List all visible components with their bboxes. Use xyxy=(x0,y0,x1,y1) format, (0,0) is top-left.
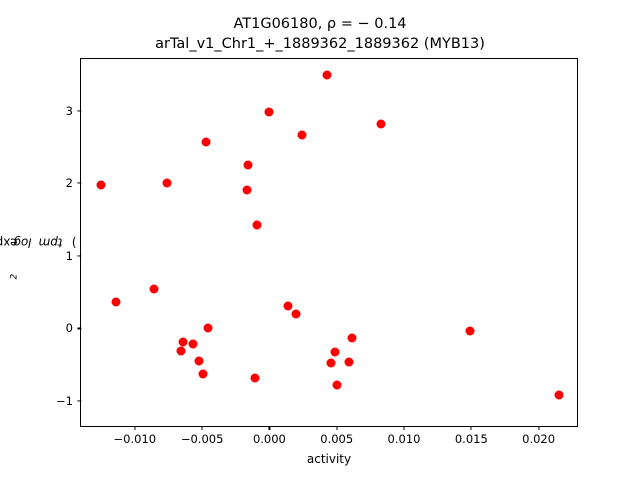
data-point xyxy=(265,108,274,117)
data-point xyxy=(111,297,120,306)
data-point xyxy=(327,358,336,367)
x-tick-mark xyxy=(471,426,472,430)
data-point xyxy=(292,309,301,318)
data-point xyxy=(163,179,172,188)
x-tick-mark xyxy=(202,426,203,430)
data-point xyxy=(202,137,211,146)
y-tick-mark xyxy=(77,255,81,256)
data-point xyxy=(347,333,356,342)
x-tick-mark xyxy=(269,426,270,430)
data-point xyxy=(323,70,332,79)
data-point xyxy=(188,339,197,348)
data-point xyxy=(284,301,293,310)
data-point xyxy=(243,161,252,170)
data-points-area xyxy=(81,59,577,426)
x-tick-label: −0.010 xyxy=(114,432,157,446)
x-tick-label: 0.010 xyxy=(388,432,421,446)
y-axis-label-suffix: ) xyxy=(4,235,77,249)
data-point xyxy=(97,181,106,190)
y-tick-label: 1 xyxy=(66,249,73,263)
data-point xyxy=(179,338,188,347)
y-tick-mark xyxy=(77,183,81,184)
y-tick-label: 3 xyxy=(66,104,73,118)
data-point xyxy=(344,357,353,366)
x-tick-mark xyxy=(134,426,135,430)
data-point xyxy=(554,390,563,399)
x-tick-label: 0.005 xyxy=(320,432,353,446)
data-point xyxy=(176,347,185,356)
x-tick-label: 0.020 xyxy=(522,432,555,446)
data-point xyxy=(149,285,158,294)
plot-axes: −0.010−0.0050.0000.0050.0100.0150.020 −1… xyxy=(80,58,578,427)
y-tick-mark xyxy=(77,328,81,329)
data-point xyxy=(203,324,212,333)
y-axis-label-sub: 2 xyxy=(10,274,20,280)
data-point xyxy=(195,357,204,366)
y-axis-label-text: expression (log2tpm) xyxy=(0,206,48,279)
data-point xyxy=(332,381,341,390)
scatter-plot-figure: AT1G06180, ρ = − 0.14 arTal_v1_Chr1_+_18… xyxy=(0,0,640,480)
data-point xyxy=(199,370,208,379)
y-tick-label: 0 xyxy=(66,321,73,335)
data-point xyxy=(377,119,386,128)
y-tick-mark xyxy=(77,401,81,402)
x-tick-mark xyxy=(538,426,539,430)
data-point xyxy=(465,327,474,336)
chart-title-line-2: arTal_v1_Chr1_+_1889362_1889362 (MYB13) xyxy=(0,34,640,54)
y-axis-label: expression (log2tpm) xyxy=(0,58,22,427)
data-point xyxy=(242,185,251,194)
y-tick-mark xyxy=(77,110,81,111)
x-tick-label: 0.015 xyxy=(455,432,488,446)
x-tick-mark xyxy=(403,426,404,430)
x-axis-label: activity xyxy=(80,452,578,466)
data-point xyxy=(331,348,340,357)
y-tick-label: −1 xyxy=(56,394,73,408)
y-tick-label: 2 xyxy=(66,176,73,190)
x-tick-mark xyxy=(336,426,337,430)
data-point xyxy=(297,130,306,139)
chart-title: AT1G06180, ρ = − 0.14 arTal_v1_Chr1_+_18… xyxy=(0,14,640,54)
data-point xyxy=(253,220,262,229)
x-tick-label: 0.000 xyxy=(253,432,286,446)
chart-title-line-1: AT1G06180, ρ = − 0.14 xyxy=(0,14,640,34)
x-tick-label: −0.005 xyxy=(181,432,224,446)
data-point xyxy=(250,373,259,382)
